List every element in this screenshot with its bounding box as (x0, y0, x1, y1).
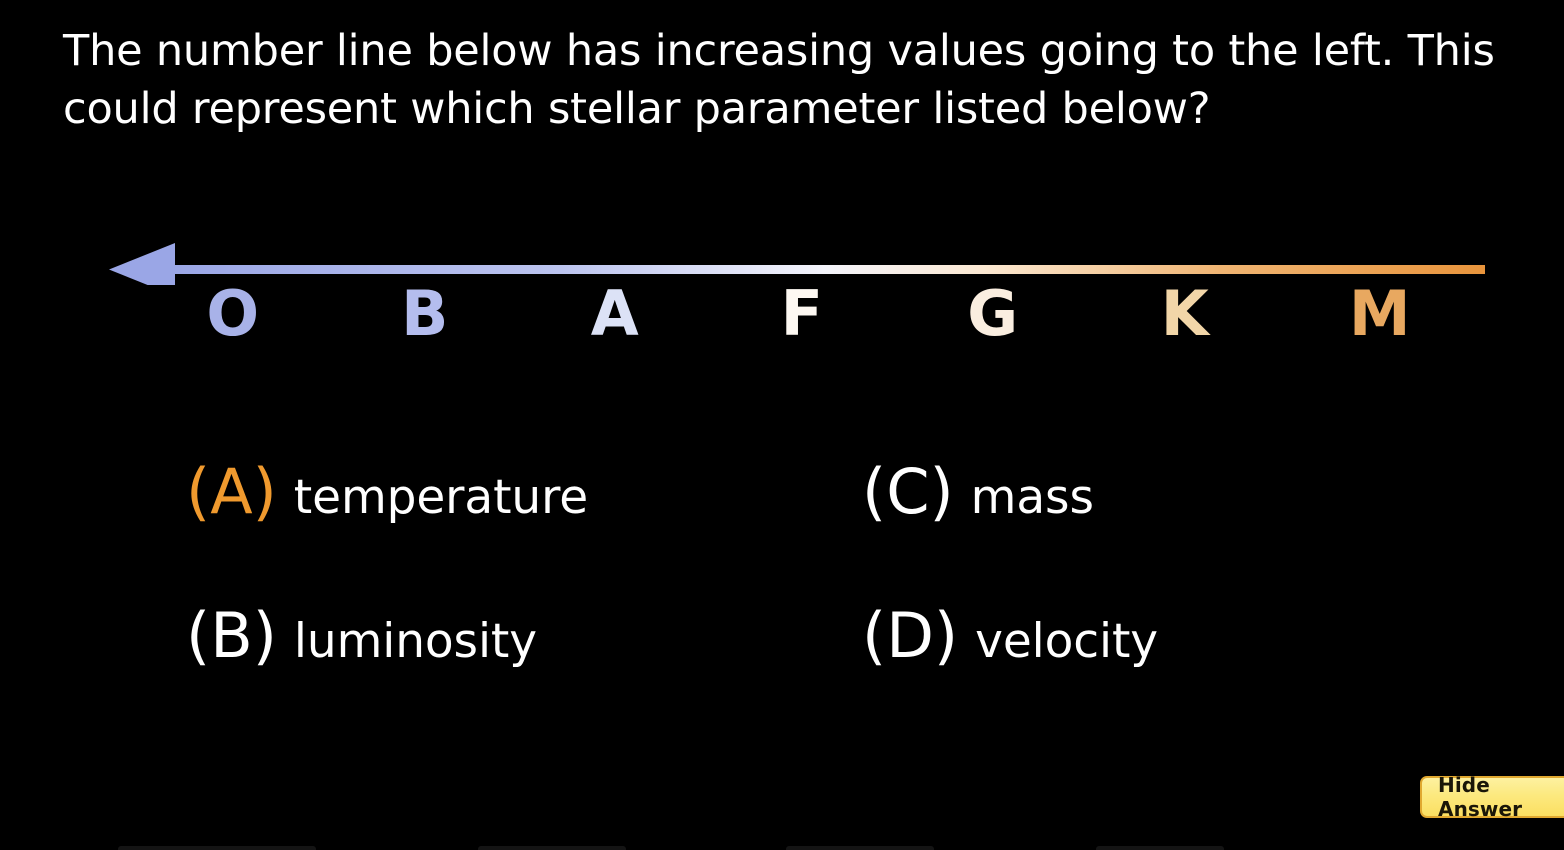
spectral-label-f: F (742, 275, 862, 353)
spectral-label-m: M (1320, 275, 1440, 353)
answer-label-c: mass (971, 461, 1094, 535)
spectral-label-g: G (933, 275, 1053, 353)
answer-label-d: velocity (975, 605, 1158, 679)
answer-label-b: luminosity (294, 605, 537, 679)
spectral-label-o: O (173, 275, 293, 353)
hide-answer-button-label: Hide Answer (1438, 773, 1562, 821)
answer-label-a: temperature (294, 461, 588, 535)
answer-option-c[interactable]: (C) mass (862, 455, 1094, 535)
spectral-label-k: K (1125, 275, 1245, 353)
answer-option-a[interactable]: (A) temperature (186, 455, 588, 535)
answer-option-b[interactable]: (B) luminosity (186, 599, 537, 679)
spectral-label-a: A (555, 275, 675, 353)
cutoff-sliver (786, 846, 934, 850)
cutoff-sliver (118, 846, 316, 850)
spectral-label-b: B (365, 275, 485, 353)
cutoff-sliver (1096, 846, 1224, 850)
answer-key-c: (C) (862, 455, 954, 529)
spectral-number-line: O B A F G K M (0, 215, 1564, 365)
question-prompt: The number line below has increasing val… (63, 22, 1553, 138)
hide-answer-button[interactable]: Hide Answer (1420, 776, 1564, 818)
answer-key-d: (D) (862, 599, 958, 673)
answer-choices: (A) temperature (B) luminosity (C) mass … (0, 455, 1564, 725)
cutoff-sliver (478, 846, 626, 850)
answer-key-a: (A) (186, 455, 277, 529)
spectral-class-labels: O B A F G K M (0, 275, 1564, 355)
answer-option-d[interactable]: (D) velocity (862, 599, 1158, 679)
bottom-cutoff-strip (0, 846, 1564, 850)
answer-key-b: (B) (186, 599, 277, 673)
